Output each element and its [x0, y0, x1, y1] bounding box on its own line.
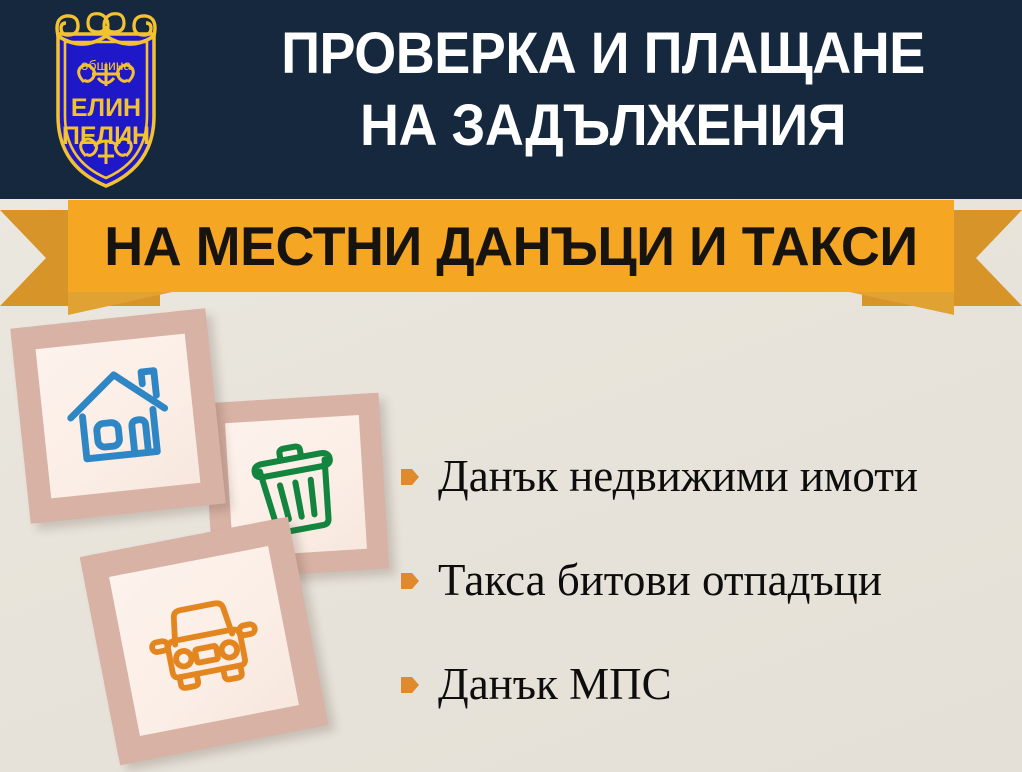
list-item-label: Данък недвижими имоти	[438, 451, 918, 501]
car-front-icon	[136, 573, 272, 709]
photo-card-car-inner	[109, 546, 299, 736]
tax-type-list: Данък недвижими имоти Такса битови отпад…	[400, 424, 1010, 736]
page-title: ПРОВЕРКА И ПЛАЩАНЕ НА ЗАДЪЛЖЕНИЯ	[219, 18, 987, 162]
page-title-line-1: ПРОВЕРКА И ПЛАЩАНЕ	[219, 18, 987, 90]
page-title-line-2: НА ЗАДЪЛЖЕНИЯ	[219, 90, 987, 162]
list-item-label: Данък МПС	[438, 659, 672, 709]
arrow-bullet-icon	[400, 466, 420, 488]
list-item: Данък недвижими имоти	[400, 424, 1010, 528]
photo-card-house	[10, 308, 225, 523]
subtitle-ribbon: НА МЕСТНИ ДАНЪЦИ И ТАКСИ	[0, 196, 1022, 311]
arrow-bullet-icon	[400, 570, 420, 592]
logo-text-elin: ЕЛИН	[71, 94, 141, 122]
photo-card-house-inner	[36, 334, 201, 499]
logo-text-obshtina: община	[81, 57, 132, 73]
photo-card-car	[80, 517, 329, 766]
list-item: Такса битови отпадъци	[400, 528, 1010, 632]
ribbon-fold-right	[836, 289, 954, 315]
logo-text-pelin: ПЕЛИН	[62, 122, 150, 150]
list-item-label: Такса битови отпадъци	[438, 555, 882, 605]
list-item: Данък МПС	[400, 632, 1010, 736]
house-icon	[53, 351, 183, 481]
municipality-logo: община ЕЛИН ПЕЛИН	[28, 6, 184, 194]
ribbon-label: НА МЕСТНИ ДАНЪЦИ И ТАКСИ	[104, 218, 917, 274]
poster-canvas: община ЕЛИН ПЕЛИН ПРОВЕРКА И ПЛАЩАНЕ НА …	[0, 0, 1022, 772]
arrow-bullet-icon	[400, 674, 420, 696]
coat-of-arms-icon: община ЕЛИН ПЕЛИН	[28, 6, 184, 194]
ribbon-band: НА МЕСТНИ ДАНЪЦИ И ТАКСИ	[68, 200, 954, 292]
